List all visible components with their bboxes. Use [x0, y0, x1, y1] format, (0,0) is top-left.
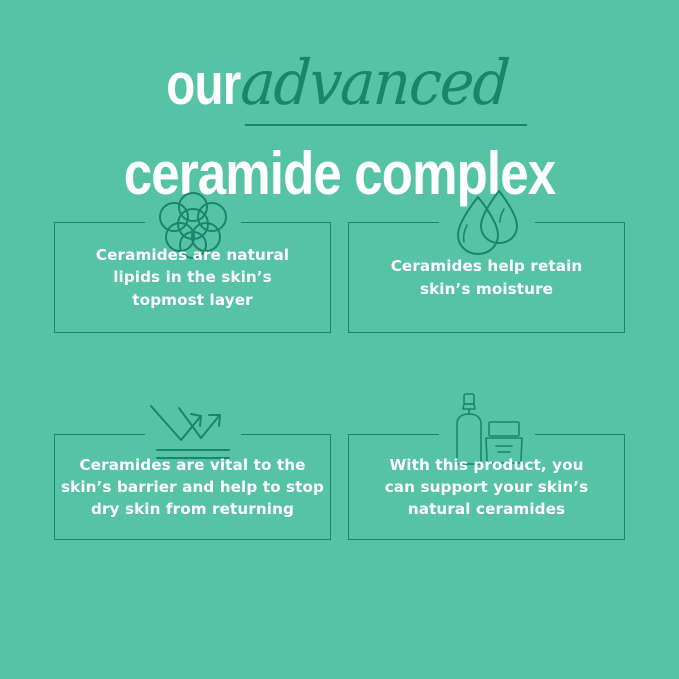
- benefit-cards-grid: Ceramides are natural lipids in the skin…: [0, 222, 679, 646]
- headline-line-2: ceramide complex: [51, 144, 628, 204]
- headline-word-our: our: [167, 56, 241, 114]
- card-row-2: Ceramides are vital to the skin’s barrie…: [0, 434, 679, 646]
- headline-line-1: ouradvanced: [0, 52, 679, 114]
- headline-script-word-wrap: advanced: [241, 52, 529, 114]
- card-text-line: With this product, you: [389, 454, 583, 476]
- benefit-card-2: Ceramides help retain skin’s moisture: [348, 222, 625, 333]
- benefit-card-3: Ceramides are vital to the skin’s barrie…: [54, 434, 331, 540]
- card-text-line: lipids in the skin’s: [113, 266, 272, 288]
- card-text: Ceramides are natural lipids in the skin…: [54, 222, 331, 333]
- card-text: Ceramides are vital to the skin’s barrie…: [54, 434, 331, 540]
- card-text-line: Ceramides are natural: [96, 244, 289, 266]
- infographic-page: ouradvanced ceramide complex: [0, 0, 679, 679]
- headline-word-advanced: advanced: [239, 52, 511, 114]
- card-text-line: skin’s barrier and help to stop: [61, 476, 324, 498]
- page-title: ouradvanced ceramide complex: [0, 52, 679, 204]
- card-text-line: Ceramides help retain: [391, 255, 583, 277]
- benefit-card-1: Ceramides are natural lipids in the skin…: [54, 222, 331, 333]
- benefit-card-4: With this product, you can support your …: [348, 434, 625, 540]
- card-text-line: can support your skin’s: [385, 476, 589, 498]
- card-row-1: Ceramides are natural lipids in the skin…: [0, 222, 679, 434]
- headline-underline: [245, 124, 527, 126]
- card-text-line: topmost layer: [132, 289, 252, 311]
- card-text-line: natural ceramides: [408, 498, 565, 520]
- card-text-line: dry skin from returning: [91, 498, 294, 520]
- card-text-line: skin’s moisture: [420, 278, 553, 300]
- card-text: Ceramides help retain skin’s moisture: [348, 222, 625, 333]
- card-text: With this product, you can support your …: [348, 434, 625, 540]
- card-text-line: Ceramides are vital to the: [79, 454, 305, 476]
